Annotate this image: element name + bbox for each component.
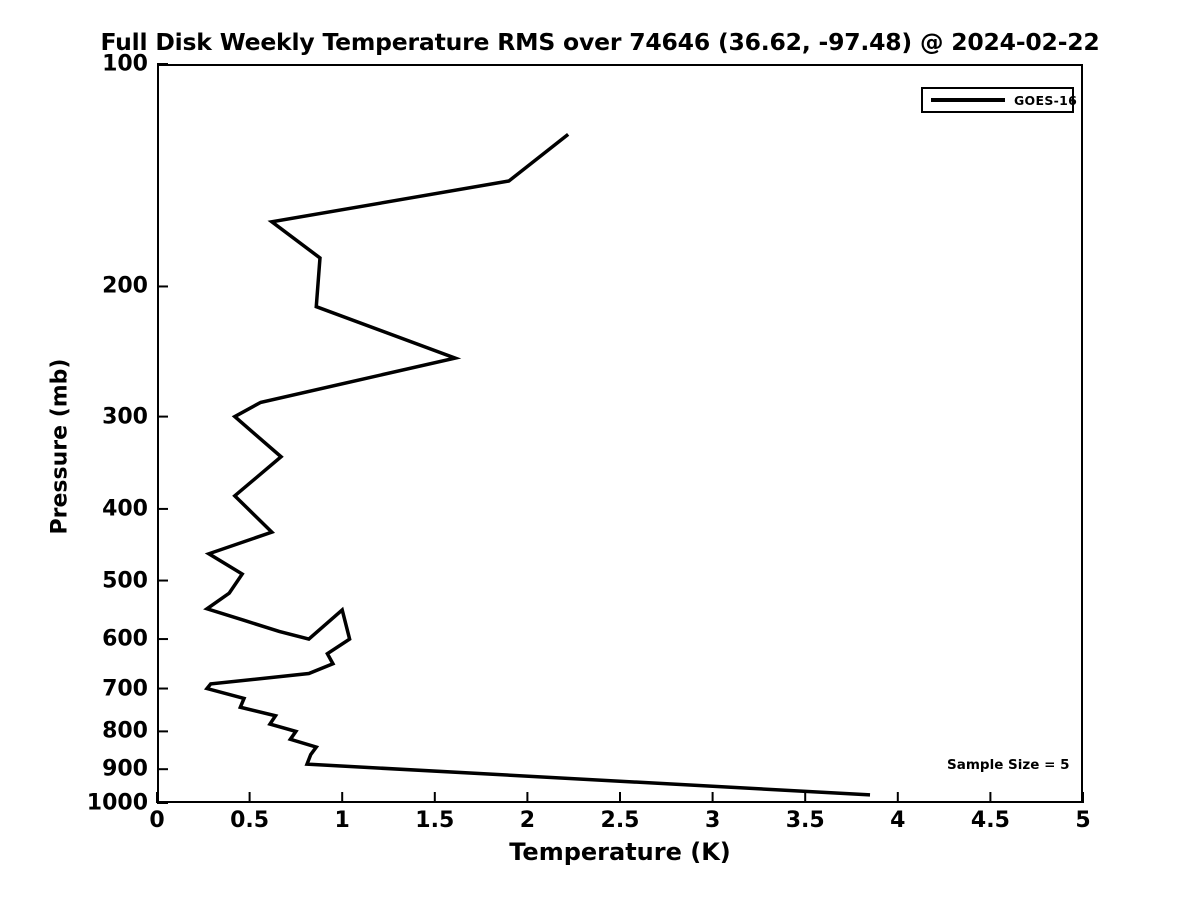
x-tick-label: 3.5 [786,808,825,833]
y-tick-label: 1000 [20,791,148,816]
y-tick-label: 600 [20,627,148,652]
x-tick-label: 0 [149,808,164,833]
x-tick-label: 4.5 [971,808,1010,833]
y-tick-label: 500 [20,568,148,593]
y-tick-label: 100 [20,52,148,77]
y-tick-label: 700 [20,676,148,701]
legend-line-swatch-goes-16 [931,98,1005,102]
y-tick-label: 200 [20,274,148,299]
y-tick-label: 900 [20,757,148,782]
x-tick-label: 0.5 [230,808,269,833]
legend-label-goes-16: GOES-16 [1014,93,1077,108]
x-tick-label: 3 [705,808,720,833]
sample-size-annotation: Sample Size = 5 [947,757,1070,773]
x-axis-label: Temperature (K) [157,838,1083,866]
x-tick-label: 1.5 [415,808,454,833]
x-tick-label: 1 [335,808,350,833]
y-tick-label: 400 [20,496,148,521]
page-title: Full Disk Weekly Temperature RMS over 74… [0,28,1200,56]
x-tick-label: 2 [520,808,535,833]
x-tick-label: 4 [890,808,905,833]
chart-legend: GOES-16 [921,87,1074,113]
y-axis-label: Pressure (mb) [48,347,73,547]
x-tick-label: 2.5 [601,808,640,833]
y-tick-label: 300 [20,404,148,429]
y-tick-label: 800 [20,719,148,744]
plot-axes-frame [157,64,1083,803]
figure-canvas: Full Disk Weekly Temperature RMS over 74… [0,0,1200,900]
x-tick-label: 5 [1075,808,1090,833]
